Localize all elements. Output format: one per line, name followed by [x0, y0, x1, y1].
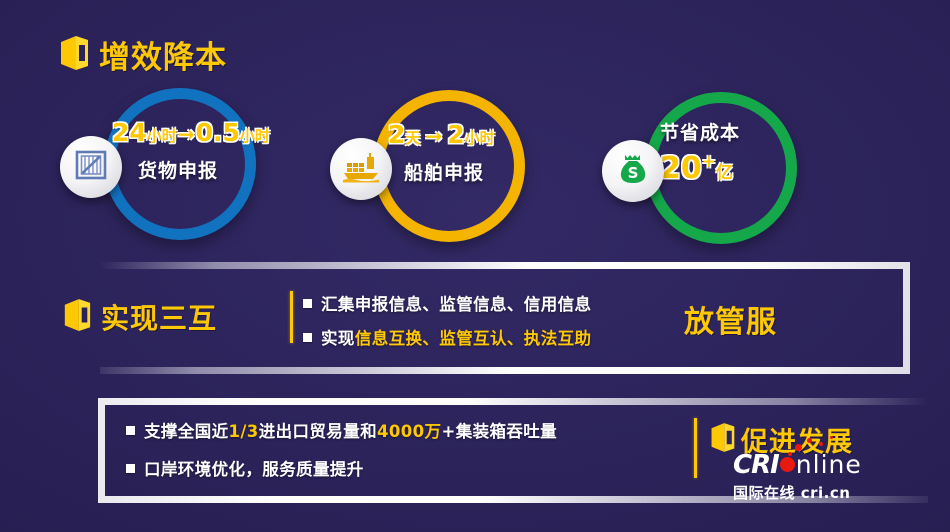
- list-item: 口岸环境优化，服务质量提升: [126, 456, 557, 480]
- ring-caption-cargo: 货物申报: [138, 156, 270, 183]
- bottom-divider: [694, 418, 697, 478]
- section-heading-top: 增效降本: [58, 32, 227, 77]
- section-heading-middle: 实现三互: [62, 297, 217, 337]
- middle-right-label: 放管服: [684, 297, 777, 341]
- cri-online-logo: CRI nline 国际在线 cri.cn: [733, 450, 862, 503]
- svg-text:S: S: [628, 164, 639, 182]
- bullet-square-icon: [126, 426, 135, 435]
- list-item-label: 支撑全国近1/3进出口贸易量和4000万+集装箱吞吐量: [144, 418, 557, 442]
- logo-wordmark: CRI nline: [733, 450, 862, 480]
- ring-text-cost: 节省成本 20+亿: [660, 118, 740, 186]
- wooden-crate-icon: [73, 147, 109, 187]
- logo-cri-text: CRI: [733, 450, 779, 480]
- money-bag-icon: S: [616, 152, 650, 190]
- ring-metric-ship: 2天→2小时: [388, 122, 495, 147]
- infographic-slide: 增效降本 24小时→0.: [0, 0, 950, 532]
- bottom-bullet-list: 支撑全国近1/3进出口贸易量和4000万+集装箱吞吐量 口岸环境优化，服务质量提…: [126, 418, 557, 480]
- list-item: 汇集申报信息、监管信息、信用信息: [303, 291, 591, 315]
- middle-bullet-list: 汇集申报信息、监管信息、信用信息 实现信息互换、监管互认、执法互助: [303, 291, 591, 349]
- logo-online-text: nline: [796, 450, 862, 479]
- ring-metric-cargo: 24小时→0.5小时: [112, 120, 270, 145]
- logo-red-dot-icon: [780, 457, 795, 472]
- ring-text-ship: 2天→2小时 船舶申报: [388, 122, 495, 185]
- badge-cost: S: [602, 140, 664, 202]
- ring-text-cargo: 24小时→0.5小时 货物申报: [112, 120, 270, 183]
- section-heading-middle-label: 实现三互: [101, 297, 217, 337]
- ribbon-page-icon: [58, 35, 90, 75]
- bullet-square-icon: [303, 333, 312, 342]
- badge-cargo: [60, 136, 122, 198]
- ribbon-page-icon: [709, 422, 736, 457]
- badge-ship: [330, 138, 392, 200]
- bullet-square-icon: [126, 464, 135, 473]
- middle-divider: [290, 291, 293, 343]
- logo-subtitle: 国际在线 cri.cn: [733, 482, 862, 503]
- ring-caption-cost: 节省成本: [660, 118, 740, 145]
- container-ship-icon: [342, 151, 380, 187]
- ring-caption-ship: 船舶申报: [404, 158, 495, 185]
- section-heading-top-label: 增效降本: [99, 32, 227, 77]
- metric-ring-group: 24小时→0.5小时 货物申报: [0, 78, 950, 256]
- list-item-label: 实现信息互换、监管互认、执法互助: [321, 325, 591, 349]
- ribbon-page-icon: [62, 298, 92, 336]
- list-item-label: 口岸环境优化，服务质量提升: [144, 456, 364, 480]
- list-item: 实现信息互换、监管互认、执法互助: [303, 325, 591, 349]
- list-item: 支撑全国近1/3进出口贸易量和4000万+集装箱吞吐量: [126, 418, 557, 442]
- bullet-square-icon: [303, 299, 312, 308]
- ring-metric-cost: 20+亿: [660, 151, 740, 186]
- list-item-label: 汇集申报信息、监管信息、信用信息: [321, 291, 591, 315]
